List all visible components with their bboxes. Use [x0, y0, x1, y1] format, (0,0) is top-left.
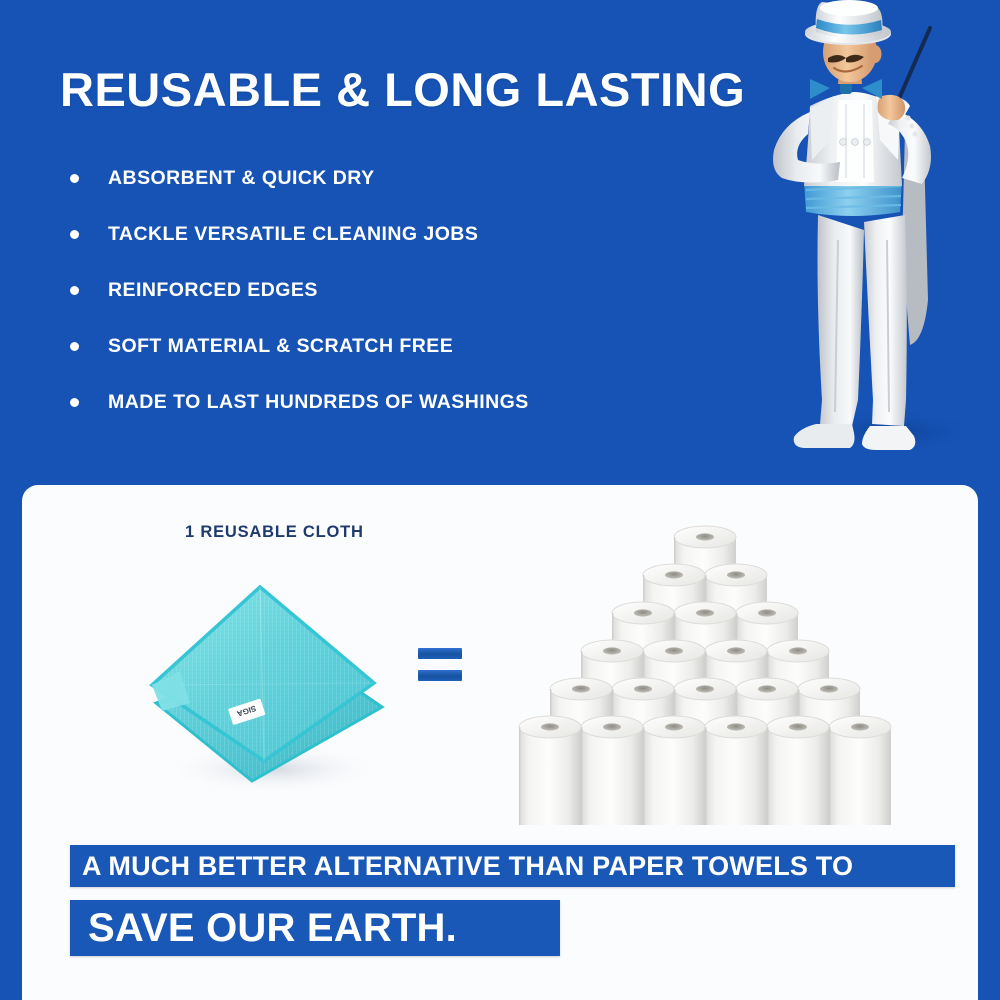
paper-towel-roll	[829, 716, 891, 825]
list-item: SOFT MATERIAL & SCRATCH FREE	[62, 318, 682, 374]
equals-bar-top	[418, 648, 462, 659]
benefit-label: MADE TO LAST HUNDREDS OF WASHINGS	[108, 391, 529, 414]
benefit-label: SOFT MATERIAL & SCRATCH FREE	[108, 335, 453, 358]
paper-towel-roll	[767, 716, 829, 825]
reusable-cloth-image: SIGA	[132, 555, 402, 805]
bullet-dot-icon	[70, 174, 79, 183]
paper-towel-roll	[705, 716, 767, 825]
benefit-label: REINFORCED EDGES	[108, 279, 318, 302]
list-item: ABSORBENT & QUICK DRY	[62, 150, 682, 206]
list-item: MADE TO LAST HUNDREDS OF WASHINGS	[62, 374, 682, 430]
infographic-page: REUSABLE & LONG LASTING ABSORBENT & QUIC…	[0, 0, 1000, 1000]
bullet-dot-icon	[70, 230, 79, 239]
callout-banner-line1: A MUCH BETTER ALTERNATIVE THAN PAPER TOW…	[70, 845, 955, 887]
bullet-dot-icon	[70, 398, 79, 407]
paper-towel-roll	[519, 716, 581, 825]
paper-towel-roll	[581, 716, 643, 825]
list-item: TACKLE VERSATILE CLEANING JOBS	[62, 206, 682, 262]
page-title: REUSABLE & LONG LASTING	[60, 62, 745, 117]
mascot-figure-icon	[742, 0, 1000, 470]
list-item: REINFORCED EDGES	[62, 262, 682, 318]
benefit-label: ABSORBENT & QUICK DRY	[108, 167, 375, 190]
cloth-caption: 1 REUSABLE CLOTH	[185, 523, 364, 542]
paper-towel-pyramid-image	[495, 515, 915, 825]
bullet-dot-icon	[70, 342, 79, 351]
bullet-dot-icon	[70, 286, 79, 295]
benefit-label: TACKLE VERSATILE CLEANING JOBS	[108, 223, 478, 246]
benefits-list: ABSORBENT & QUICK DRY TACKLE VERSATILE C…	[62, 150, 682, 430]
equals-bar-bottom	[418, 670, 462, 681]
callout-banner-line2: SAVE OUR EARTH.	[70, 900, 560, 956]
equals-sign-icon	[418, 648, 462, 681]
paper-towel-roll	[643, 716, 705, 825]
